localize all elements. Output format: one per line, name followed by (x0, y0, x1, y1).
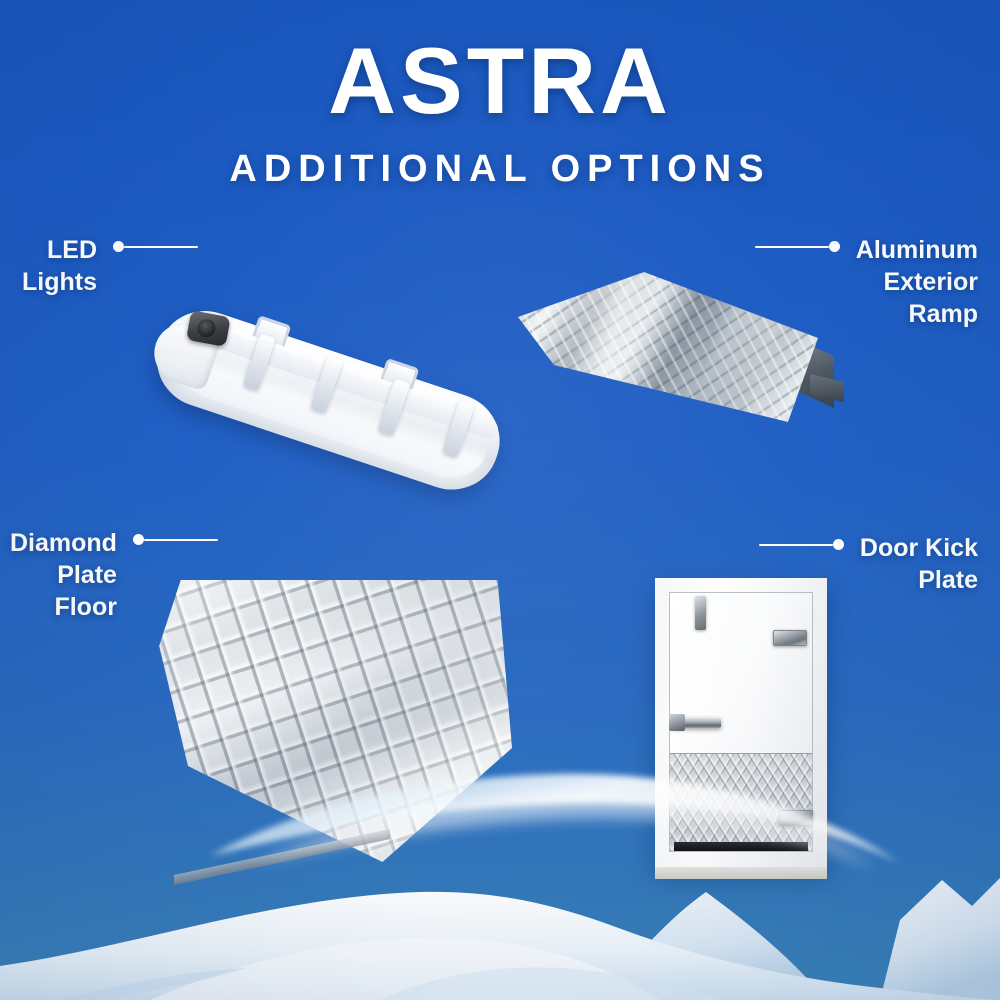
door-hinge-icon (779, 810, 813, 826)
connector-line-door-kick-plate (759, 532, 844, 557)
connector-dot-icon (133, 534, 144, 545)
callout-door-kick-plate[interactable]: Door Kick Plate (759, 532, 978, 596)
connector-dot-icon (829, 241, 840, 252)
connector-rule (124, 246, 198, 248)
led-fixture-graphic (145, 298, 512, 502)
poster-header: ASTRA ADDITIONAL OPTIONS (0, 0, 1000, 188)
connector-rule (144, 539, 218, 541)
product-image-door-kick-plate (655, 578, 827, 868)
callout-label-led-lights: LED Lights (22, 234, 97, 298)
door-handle-icon (673, 717, 721, 728)
connector-rule (759, 544, 833, 546)
callout-diamond-plate-floor[interactable]: Diamond Plate Floor (10, 527, 218, 623)
connector-dot-icon (833, 539, 844, 550)
connector-line-aluminum-exterior-ramp (755, 234, 840, 259)
connector-line-diamond-plate-floor (133, 527, 218, 552)
callout-aluminum-exterior-ramp[interactable]: Aluminum Exterior Ramp (755, 234, 978, 330)
connector-line-led-lights (113, 234, 198, 259)
door-hinge-icon (773, 630, 807, 646)
callout-label-aluminum-exterior-ramp: Aluminum Exterior Ramp (856, 234, 978, 330)
connector-rule (755, 246, 829, 248)
door-top-latch-icon (695, 596, 706, 630)
door-sweep (674, 842, 808, 851)
callout-led-lights[interactable]: LED Lights (22, 234, 198, 298)
door-kick-plate-panel (670, 753, 812, 851)
product-image-led-lights (150, 262, 530, 452)
poster-canvas: ASTRA ADDITIONAL OPTIONS LED Lights Alum… (0, 0, 1000, 1000)
connector-dot-icon (113, 241, 124, 252)
door-threshold (655, 867, 827, 879)
page-subtitle: ADDITIONAL OPTIONS (0, 150, 1000, 188)
floor-plate-edge (174, 829, 390, 885)
brand-title: ASTRA (0, 34, 1000, 128)
callout-label-door-kick-plate: Door Kick Plate (860, 532, 978, 596)
callout-label-diamond-plate-floor: Diamond Plate Floor (10, 527, 117, 623)
